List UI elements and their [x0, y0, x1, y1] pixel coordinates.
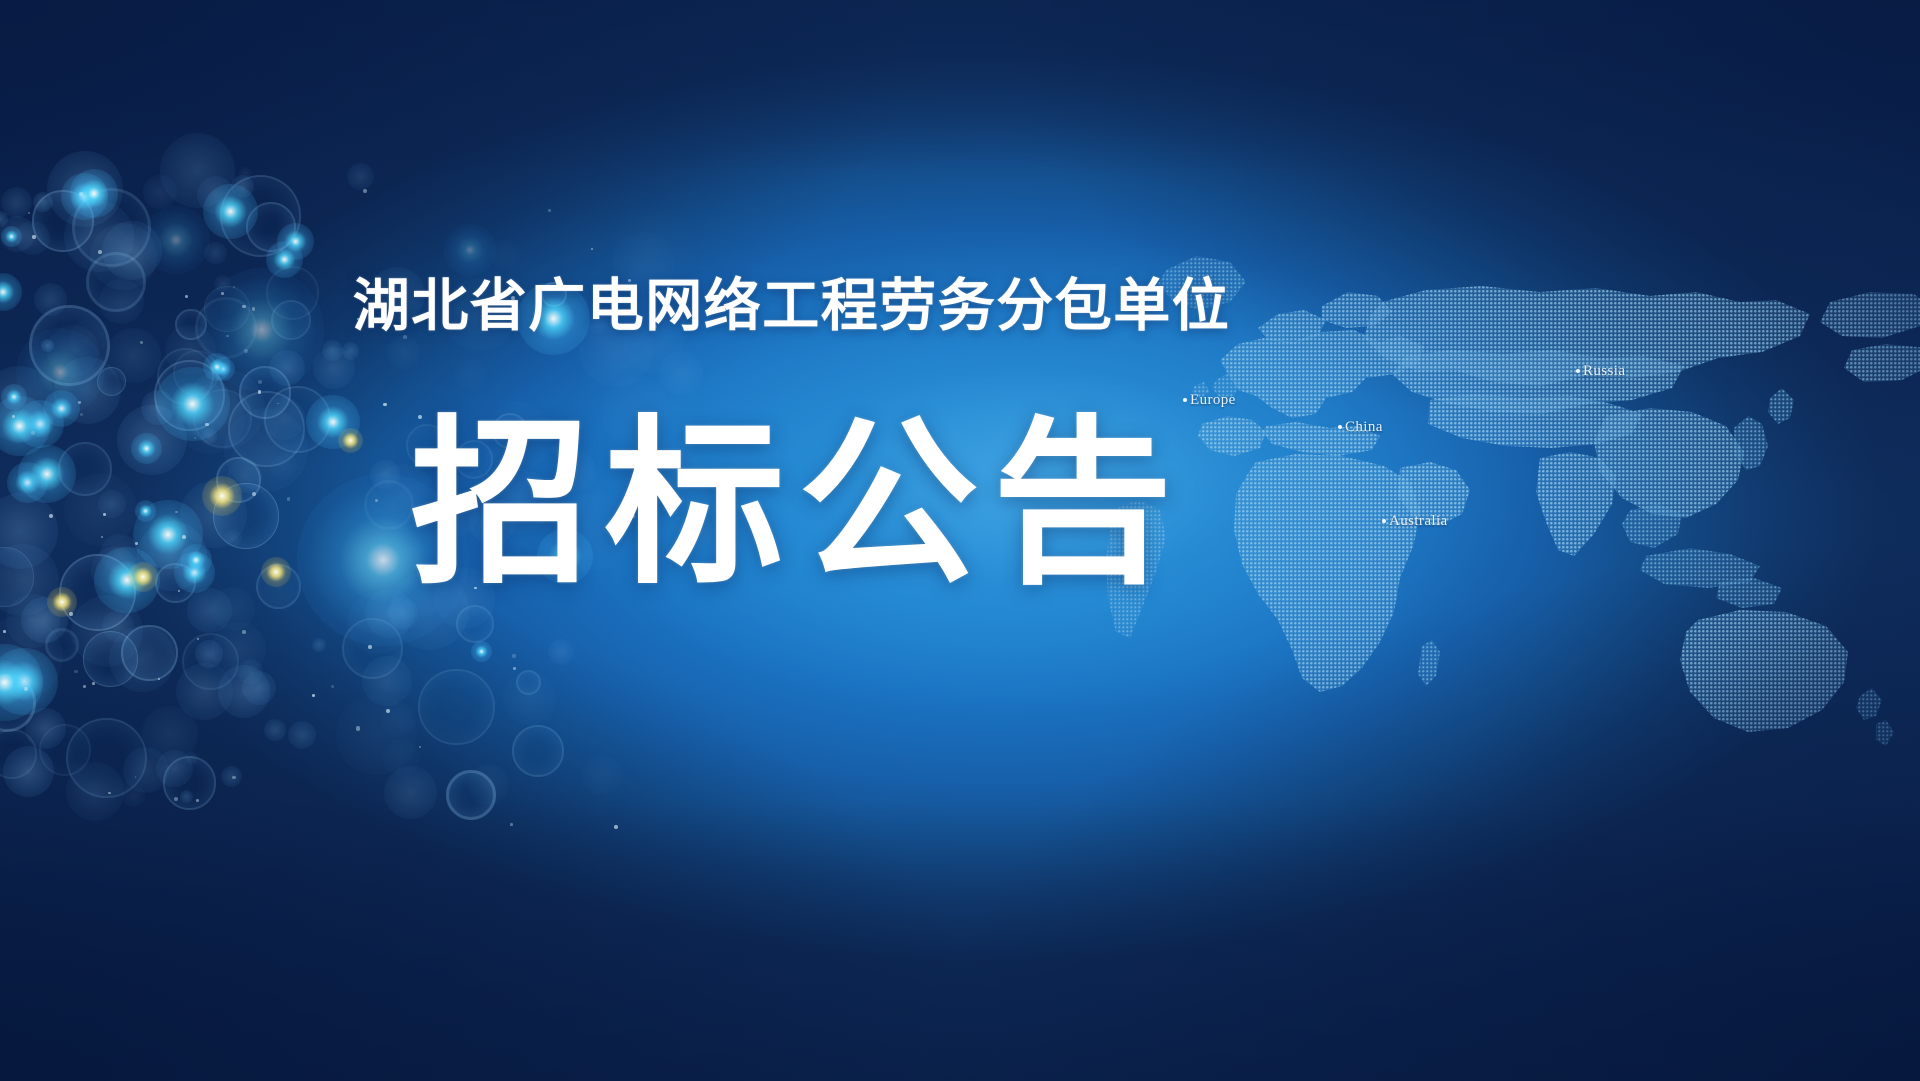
map-label-text: Australia — [1389, 513, 1448, 529]
map-label-europe: Europe — [1183, 392, 1236, 409]
map-marker-dot-icon — [1183, 398, 1187, 402]
map-label-china: China — [1338, 419, 1383, 436]
map-label-text: Europe — [1190, 392, 1236, 408]
map-label-russia: Russia — [1576, 363, 1625, 380]
map-marker-dot-icon — [1382, 519, 1386, 523]
map-label-text: China — [1345, 419, 1383, 435]
map-label-text: Russia — [1583, 363, 1625, 379]
map-marker-dot-icon — [1338, 425, 1342, 429]
map-marker-dot-icon — [1576, 369, 1580, 373]
background-corner-shading — [0, 0, 1920, 1081]
poster-canvas: RussiaEuropeChinaAustralia 湖北省广电网络工程劳务分包… — [0, 0, 1920, 1081]
map-label-australia: Australia — [1382, 513, 1448, 530]
